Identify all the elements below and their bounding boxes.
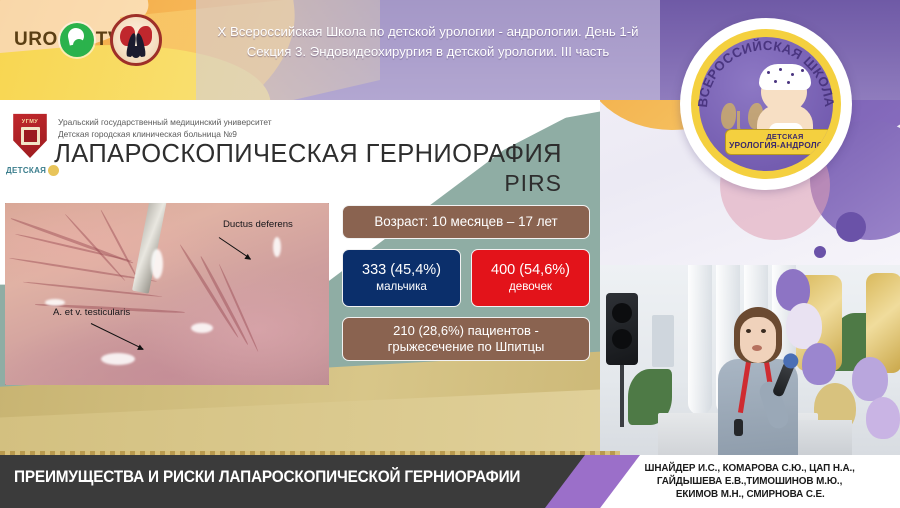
svg-text:ВСЕРОССИЙСКАЯ ШКОЛА: ВСЕРОССИЙСКАЯ ШКОЛА bbox=[695, 38, 837, 108]
balloon-purple bbox=[802, 343, 836, 385]
stat-boys-box: 333 (45,4%) мальчика bbox=[342, 249, 461, 307]
stat-spitz-box: 210 (28,6%) пациентов - грыжесечение по … bbox=[342, 317, 590, 361]
author-line-3: ЕКИМОВ М.Н., СМИРНОВА С.Е. bbox=[676, 488, 825, 501]
stat-spitz-line-2: грыжесечение по Шпитцы bbox=[343, 339, 589, 355]
medallion-arc-text: ВСЕРОССИЙСКАЯ ШКОЛА bbox=[691, 29, 841, 179]
slide-statistics: Возраст: 10 месяцев – 17 лет 333 (45,4%)… bbox=[342, 205, 590, 361]
stat-girls-value: 400 (54,6%) bbox=[472, 262, 589, 279]
pa-speaker-box bbox=[606, 293, 638, 365]
stat-boys-label: мальчика bbox=[343, 280, 460, 294]
affiliation-line-2: Детская городская клиническая больница №… bbox=[58, 128, 388, 140]
presentation-clicker bbox=[734, 419, 743, 436]
author-line-1: ШНАЙДЕР И.С., КОМАРОВА С.Ю., ЦАП Н.А., bbox=[645, 462, 855, 475]
talk-title: ПРЕИМУЩЕСТВА И РИСКИ ЛАПАРОСКОПИЧЕСКОЙ Г… bbox=[14, 468, 535, 487]
stat-girls-box: 400 (54,6%) девочек bbox=[471, 249, 590, 307]
photo-tissue-layer bbox=[5, 203, 329, 385]
slide-title-line-2: PIRS bbox=[20, 170, 562, 197]
author-line-2: ГАЙДЫШЕВА Е.В.,ТИМОШИНОВ М.Ю., bbox=[657, 475, 842, 488]
stat-spitz-line-1: 210 (28,6%) пациентов - bbox=[343, 323, 589, 339]
stat-age-box: Возраст: 10 месяцев – 17 лет bbox=[342, 205, 590, 239]
speaker-mouth bbox=[752, 345, 762, 351]
header-title-block: X Всероссийская Школа по детской урологи… bbox=[196, 22, 660, 62]
speaker-video-feed bbox=[600, 265, 900, 455]
header-line-2: Секция 3. Эндовидеохирургия в детской ур… bbox=[196, 42, 660, 62]
slide-title-line-1: ЛАПАРОСКОПИЧЕСКАЯ ГЕРНИОРАФИЯ bbox=[20, 140, 562, 169]
balloon-lilac bbox=[852, 357, 888, 401]
photo-label-vessels: A. et v. testicularis bbox=[53, 307, 130, 318]
author-list: ШНАЙДЕР И.С., КОМАРОВА С.Ю., ЦАП Н.А., Г… bbox=[600, 455, 900, 508]
decor-purple-dot bbox=[814, 246, 826, 258]
school-logo-medallion: ДЕТСКАЯ УРОЛОГИЯ-АНДРОЛОГИЯ ВСЕРОССИЙСКА… bbox=[680, 18, 852, 190]
speaker-face bbox=[740, 317, 776, 363]
crest-snout bbox=[131, 46, 141, 58]
speaker-stand bbox=[620, 365, 624, 427]
decor-purple-dot bbox=[836, 212, 866, 242]
crest-abbr: УГМУ bbox=[10, 119, 50, 125]
wall-switch-panel bbox=[652, 315, 674, 367]
speaker-eye bbox=[761, 329, 766, 333]
kidney-bull-crest-icon bbox=[110, 14, 162, 66]
uro-tv-green-emblem-icon bbox=[60, 23, 94, 57]
stat-gender-row: 333 (45,4%) мальчика 400 (54,6%) девочек bbox=[342, 249, 590, 307]
speaker-eye bbox=[746, 329, 751, 333]
presentation-slide: УГМУ ДЕТСКАЯ Уральский государственный м… bbox=[0, 100, 600, 455]
photo-label-ductus: Ductus deferens bbox=[223, 219, 293, 230]
speaker-person bbox=[712, 307, 804, 455]
slide-title-block: ЛАПАРОСКОПИЧЕСКАЯ ГЕРНИОРАФИЯ PIRS bbox=[20, 140, 580, 197]
affiliation-line-1: Уральский государственный медицинский ун… bbox=[58, 116, 388, 128]
stat-girls-label: девочек bbox=[472, 280, 589, 294]
urotv-logo-text-left: URO bbox=[14, 29, 58, 51]
stat-boys-value: 333 (45,4%) bbox=[343, 262, 460, 279]
broadcast-stage: URO TV X Всероссийская Школа по детской … bbox=[0, 0, 900, 508]
balloon-lilac bbox=[866, 397, 900, 439]
header-line-1: X Всероссийская Школа по детской урологи… bbox=[196, 22, 660, 42]
wall-panel bbox=[688, 265, 712, 415]
slide-affiliation: Уральский государственный медицинский ун… bbox=[58, 116, 388, 140]
laparoscopic-photo: Ductus deferens A. et v. testicularis bbox=[5, 203, 329, 385]
